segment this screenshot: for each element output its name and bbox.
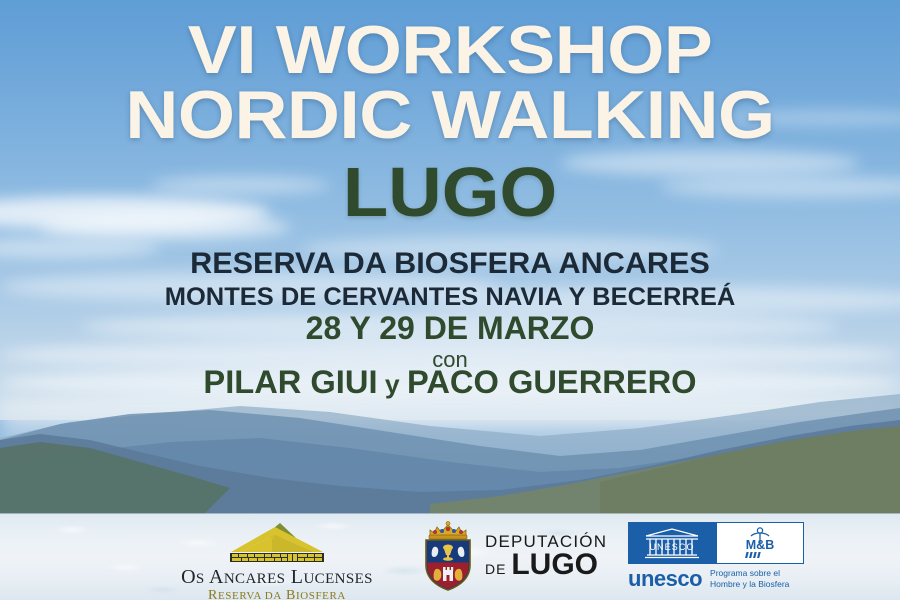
svg-text:M&B: M&B — [746, 538, 774, 552]
presenters-conjunction: y — [378, 369, 408, 399]
dates-text: 28 Y 29 DE MARZO — [0, 310, 900, 347]
ancares-name: OS ANCARES LUCENSES — [166, 567, 388, 588]
presenters-line: PILAR GIUI y PACO GUERRERO — [0, 364, 900, 401]
presenter-one: PILAR GIUI — [203, 364, 377, 400]
logo-unesco: UNESCO M&B — [628, 522, 818, 590]
unesco-emblem-box: UNESCO — [628, 522, 716, 564]
logo-bar: OS ANCARES LUCENSES RESERVA DA BIOSFERA — [0, 518, 900, 600]
unesco-programme-line2: Hombre y la Biosfera — [710, 579, 789, 590]
mountain-range-near — [0, 418, 900, 518]
deputacion-de: DE — [485, 561, 506, 577]
reserve-heading: RESERVA DA BIOSFERA ANCARES — [0, 247, 900, 281]
page-title-line1: VI WORKSHOP — [0, 18, 900, 83]
unesco-wordmark-row: unesco Programa sobre el Hombre y la Bio… — [628, 568, 818, 590]
deputacion-line2: DE LUGO — [485, 550, 607, 580]
logo-ancares: OS ANCARES LUCENSES RESERVA DA BIOSFERA — [166, 522, 388, 600]
deputacion-wordmark: DEPUTACIÓN DE LUGO — [485, 533, 607, 580]
coat-of-arms-icon — [420, 520, 476, 592]
presenter-two: PACO GUERRERO — [407, 364, 697, 400]
area-subheading: MONTES DE CERVANTES NAVIA Y BECERREÁ — [0, 283, 900, 312]
ancares-subtitle: RESERVA DA BIOSFERA — [166, 588, 388, 600]
svg-text:UNESCO: UNESCO — [649, 542, 694, 552]
mab-emblem-box: M&B — [716, 522, 804, 564]
unesco-emblem-boxes: UNESCO M&B — [628, 522, 804, 564]
deputacion-lugo: LUGO — [511, 548, 598, 581]
unesco-programme-text: Programa sobre el Hombre y la Biosfera — [710, 568, 789, 589]
unesco-temple-icon: UNESCO — [642, 527, 702, 559]
unesco-wordmark: unesco — [628, 568, 702, 590]
poster-canvas: VI WORKSHOP NORDIC WALKING LUGO RESERVA … — [0, 0, 900, 600]
page-title-line2: NORDIC WALKING — [0, 83, 900, 148]
house-roof-icon — [222, 522, 332, 566]
logo-deputacion: DEPUTACIÓN DE LUGO — [420, 520, 620, 592]
mab-icon: M&B — [735, 526, 785, 560]
city-heading: LUGO — [0, 157, 900, 227]
unesco-programme-line1: Programa sobre el — [710, 568, 789, 579]
